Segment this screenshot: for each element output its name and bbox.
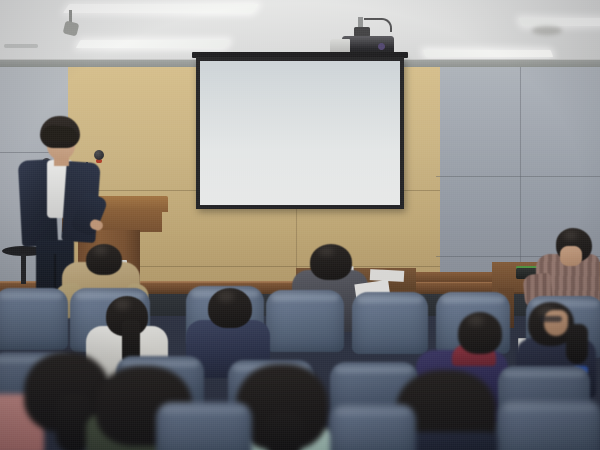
projector-indicator: [378, 43, 385, 50]
seat: [498, 400, 600, 450]
fluorescent-light-1-icon: [63, 4, 259, 13]
auditorium-photo: Speaker at podium addressing an audience…: [0, 0, 600, 450]
fluorescent-light-4-icon: [423, 50, 554, 57]
ceiling-sprinkler-icon: [64, 10, 78, 36]
seat: [156, 402, 252, 450]
projection-screen: [196, 57, 404, 209]
seat: [0, 288, 68, 350]
ceiling-vent: [4, 44, 38, 48]
seat: [266, 290, 344, 352]
seat: [330, 404, 416, 450]
fluorescent-light-2-icon: [76, 40, 231, 48]
panel-seam: [436, 176, 600, 177]
projection-screen-surface: [200, 61, 400, 205]
audience: [0, 244, 600, 450]
fluorescent-light-3-icon: [518, 18, 600, 26]
ceiling-stain: [532, 26, 562, 35]
seat: [352, 292, 428, 354]
